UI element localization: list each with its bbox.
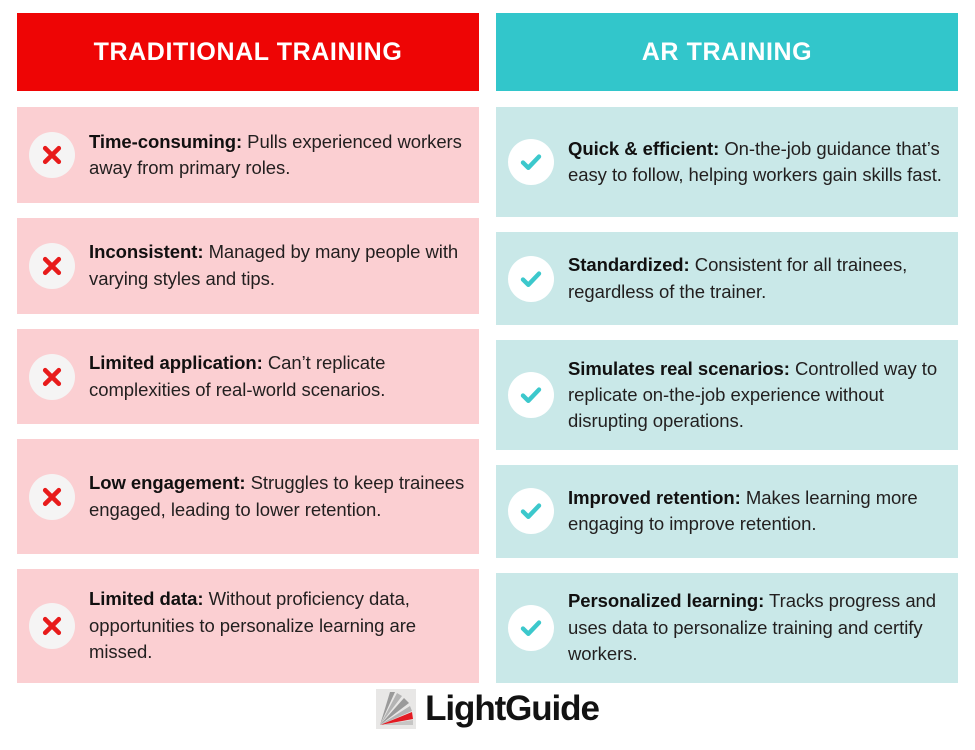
x-mark-icon: [29, 474, 75, 520]
comparison-infographic: TRADITIONAL TRAINING Time-consuming: Pul…: [0, 0, 975, 750]
list-item: Quick & efficient: On-the-job guidance t…: [496, 107, 958, 217]
list-item: Personalized learning: Tracks progress a…: [496, 573, 958, 683]
x-mark-icon: [29, 132, 75, 178]
list-item-lead: Personalized learning:: [568, 590, 764, 611]
x-mark-icon: [29, 243, 75, 289]
list-item: Low engagement: Struggles to keep traine…: [17, 439, 479, 553]
list-item-lead: Standardized:: [568, 254, 690, 275]
column-ar-training: AR TRAINING Quick & efficient: On-the-jo…: [496, 13, 958, 683]
list-item: Time-consuming: Pulls experienced worker…: [17, 107, 479, 203]
list-item-lead: Low engagement:: [89, 472, 246, 493]
brand-footer: LightGuide: [0, 678, 975, 740]
x-mark-icon: [29, 354, 75, 400]
list-item: Inconsistent: Managed by many people wit…: [17, 218, 479, 314]
list-item-lead: Inconsistent:: [89, 241, 203, 262]
list-item: Limited data: Without proficiency data, …: [17, 569, 479, 683]
list-item-text: Low engagement: Struggles to keep traine…: [89, 470, 465, 523]
list-item-text: Limited application: Can’t replicate com…: [89, 350, 465, 403]
list-item-lead: Quick & efficient:: [568, 138, 719, 159]
list-item-text: Simulates real scenarios: Controlled way…: [568, 356, 944, 435]
list-item: Limited application: Can’t replicate com…: [17, 329, 479, 425]
check-mark-icon: [508, 256, 554, 302]
list-item-lead: Improved retention:: [568, 487, 741, 508]
check-mark-icon: [508, 605, 554, 651]
check-mark-icon: [508, 372, 554, 418]
list-item-text: Standardized: Consistent for all trainee…: [568, 252, 944, 305]
list-item-lead: Simulates real scenarios:: [568, 358, 790, 379]
comparison-columns: TRADITIONAL TRAINING Time-consuming: Pul…: [17, 13, 958, 683]
x-mark-icon: [29, 603, 75, 649]
list-item-text: Limited data: Without proficiency data, …: [89, 586, 465, 665]
lightguide-rays-logo-icon: [376, 689, 416, 729]
card-stack-traditional: Time-consuming: Pulls experienced worker…: [17, 107, 479, 683]
check-mark-icon: [508, 488, 554, 534]
list-item-lead: Limited data:: [89, 588, 203, 609]
lightguide-wordmark: LightGuide: [425, 689, 599, 729]
card-stack-ar: Quick & efficient: On-the-job guidance t…: [496, 107, 958, 683]
column-traditional-training: TRADITIONAL TRAINING Time-consuming: Pul…: [17, 13, 479, 683]
column-header-traditional-training: TRADITIONAL TRAINING: [17, 13, 479, 91]
list-item-text: Quick & efficient: On-the-job guidance t…: [568, 136, 944, 189]
list-item-text: Time-consuming: Pulls experienced worker…: [89, 129, 465, 182]
list-item: Simulates real scenarios: Controlled way…: [496, 340, 958, 450]
list-item-text: Inconsistent: Managed by many people wit…: [89, 239, 465, 292]
column-header-ar-training: AR TRAINING: [496, 13, 958, 91]
list-item-text: Personalized learning: Tracks progress a…: [568, 588, 944, 667]
list-item-text: Improved retention: Makes learning more …: [568, 485, 944, 538]
list-item-lead: Limited application:: [89, 352, 263, 373]
check-mark-icon: [508, 139, 554, 185]
list-item: Improved retention: Makes learning more …: [496, 465, 958, 558]
list-item-lead: Time-consuming:: [89, 131, 242, 152]
list-item: Standardized: Consistent for all trainee…: [496, 232, 958, 325]
